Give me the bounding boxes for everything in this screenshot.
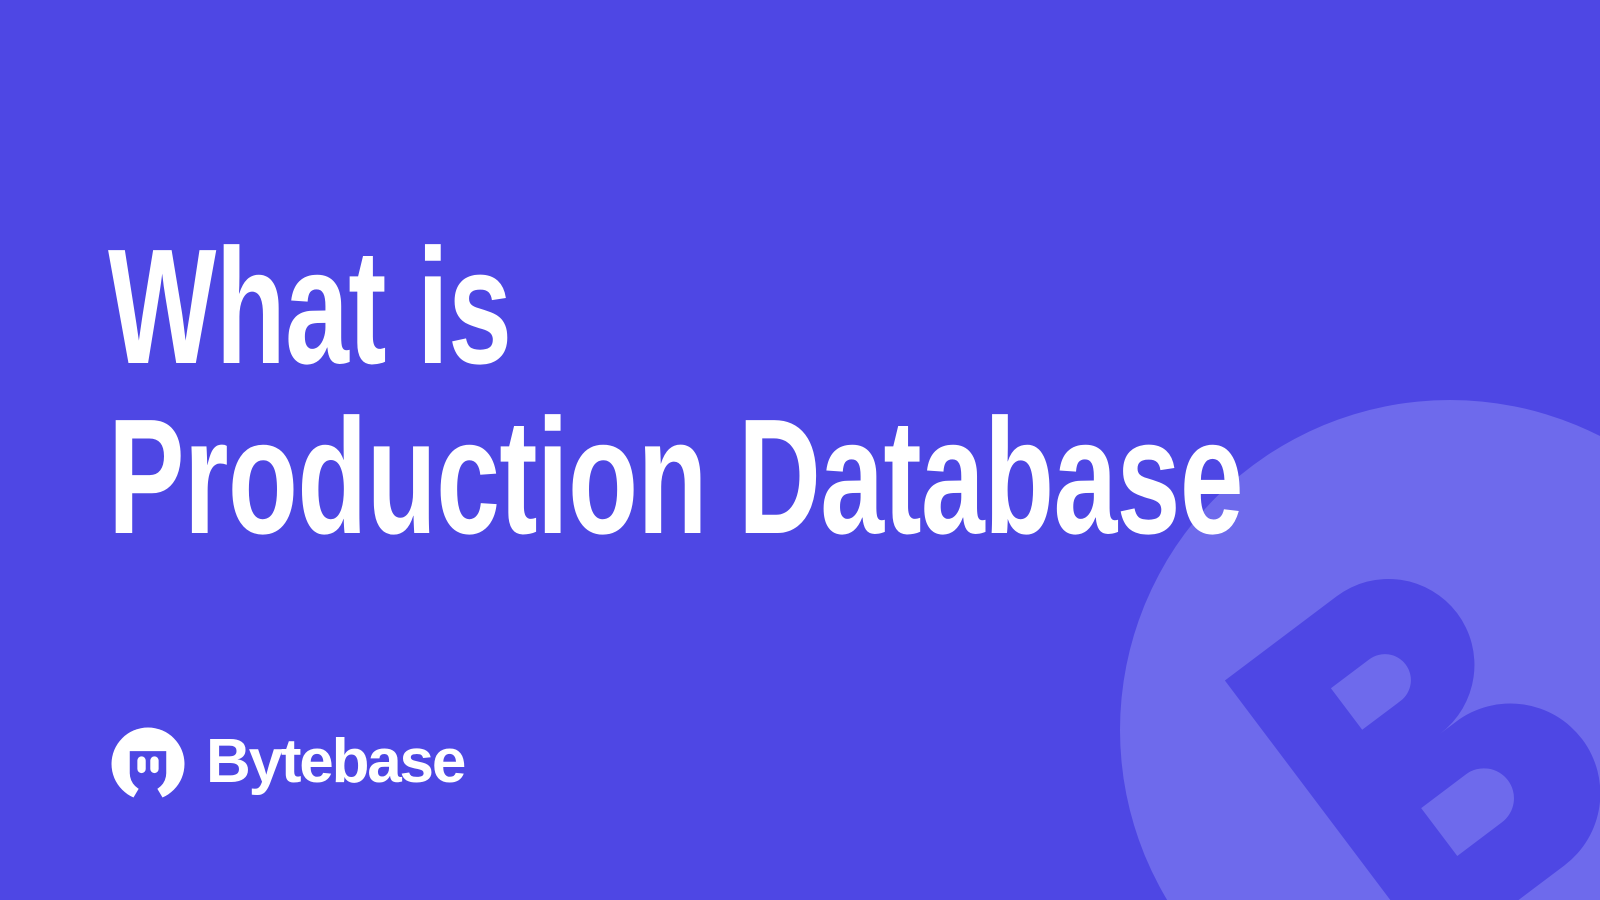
page-title: What is Production Database — [108, 222, 1468, 562]
page-title-line-1: What is — [108, 222, 1060, 392]
brand-wordmark: Bytebase — [206, 731, 464, 793]
page-title-line-2: Production Database — [108, 392, 1060, 562]
bytebase-logo-icon — [110, 726, 186, 802]
brand-lockup[interactable]: Bytebase — [110, 726, 464, 802]
cover-slide: What is Production Database — [0, 0, 1600, 900]
